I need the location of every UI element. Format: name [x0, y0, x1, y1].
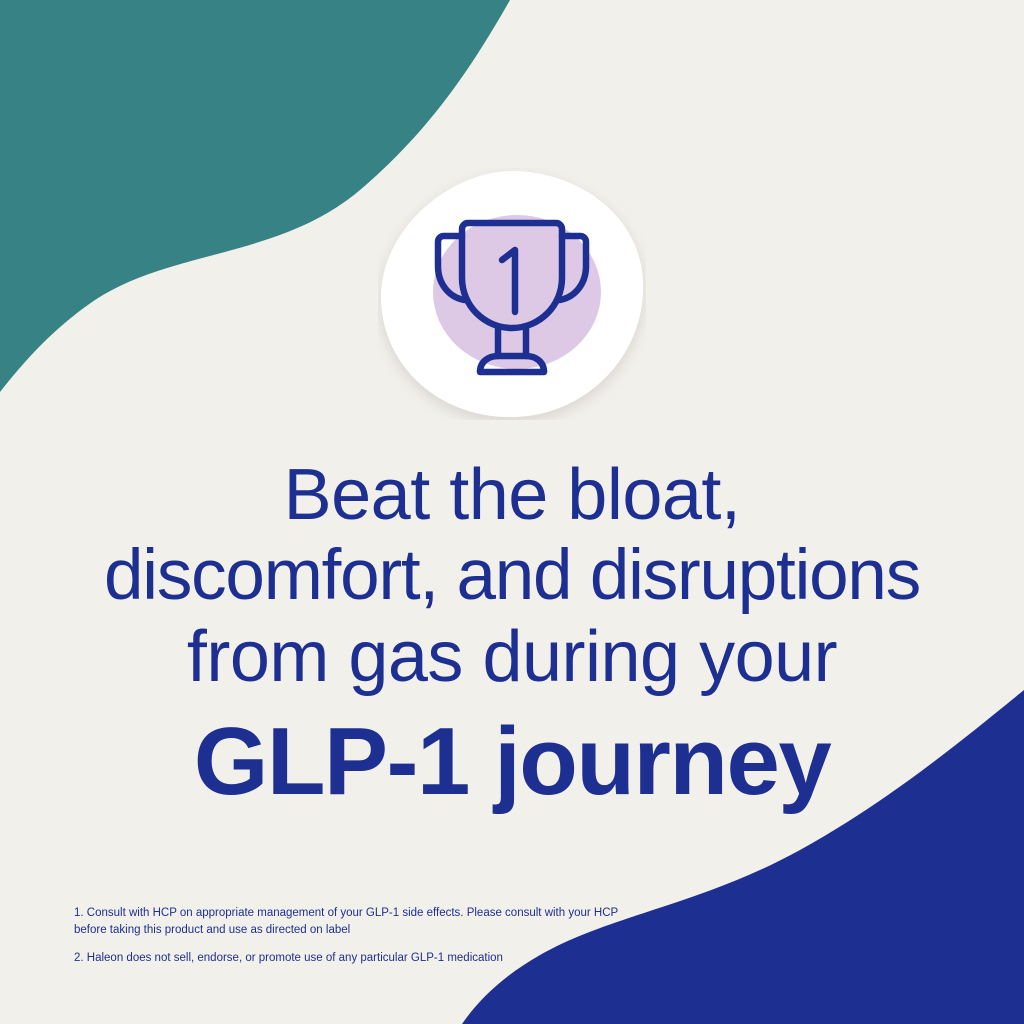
trophy-icon [422, 212, 602, 380]
headline-emphasis: GLP-1 journey [0, 712, 1024, 813]
trophy-rank-numeral [502, 250, 515, 312]
headline-line-3: from gas during your [0, 617, 1024, 698]
footnote-1: 1. Consult with HCP on appropriate manag… [74, 905, 634, 938]
footnotes: 1. Consult with HCP on appropriate manag… [74, 905, 634, 967]
trophy-stem [498, 328, 526, 356]
footnote-2: 2. Haleon does not sell, endorse, or pro… [74, 950, 634, 967]
promotional-poster: Beat the bloat, discomfort, and disrupti… [0, 0, 1024, 1024]
trophy-badge [378, 168, 646, 420]
headline-line-1: Beat the bloat, [0, 455, 1024, 536]
page-title: Beat the bloat, discomfort, and disrupti… [0, 455, 1024, 813]
trophy-foot [480, 356, 544, 372]
headline-line-2: discomfort, and disruptions [0, 536, 1024, 616]
